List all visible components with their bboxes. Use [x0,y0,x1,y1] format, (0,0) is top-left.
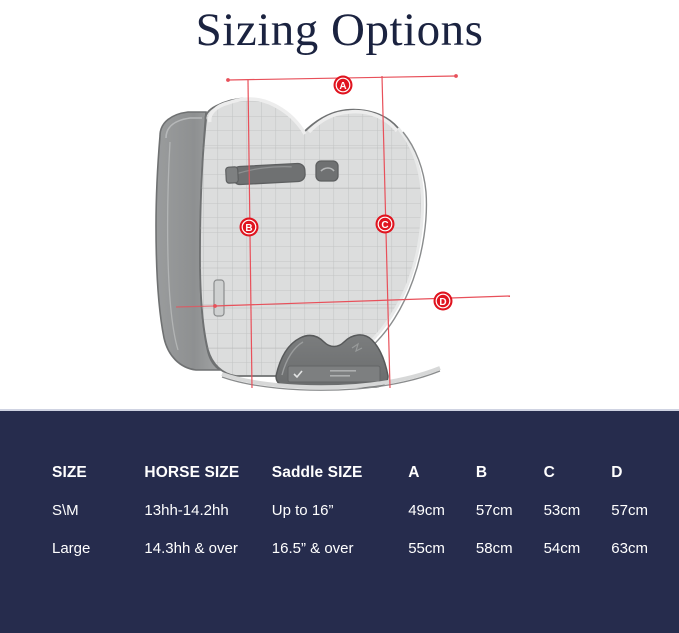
marker-b: B [240,218,259,237]
cell-c: 54cm [544,529,612,567]
svg-text:A: A [339,81,346,92]
cell-saddle-size: Up to 16” [272,491,408,529]
th-size: SIZE [0,455,138,491]
saddle-pad-illustration: A B C D [0,58,679,410]
sizing-table: SIZE HORSE SIZE Saddle SIZE A B C D S\M … [0,455,679,567]
marker-d: D [434,292,453,311]
pad-d-ring-tab [316,161,338,181]
table-row: Large 14.3hh & over 16.5” & over 55cm 58… [0,529,679,567]
th-b: B [476,455,544,491]
marker-a: A [334,76,353,95]
cell-saddle-size: 16.5” & over [272,529,408,567]
cell-d: 57cm [611,491,679,529]
th-c: C [544,455,612,491]
th-horse-size: HORSE SIZE [138,455,271,491]
pad-girth-strap [226,163,306,185]
sizing-table-panel: SIZE HORSE SIZE Saddle SIZE A B C D S\M … [0,411,679,633]
marker-c: C [376,215,395,234]
pad-body [200,99,430,376]
page-title: Sizing Options [0,2,679,58]
cell-b: 57cm [476,491,544,529]
th-d: D [611,455,679,491]
cell-a: 55cm [408,529,476,567]
svg-text:C: C [381,220,388,231]
cell-b: 58cm [476,529,544,567]
sizing-options-page: Sizing Options [0,0,679,633]
cell-d: 63cm [611,529,679,567]
th-a: A [408,455,476,491]
cell-horse-size: 13hh-14.2hh [138,491,271,529]
svg-text:B: B [245,223,252,234]
svg-text:D: D [439,297,446,308]
cell-a: 49cm [408,491,476,529]
pad-billet-keeper [214,280,224,316]
table-row: S\M 13hh-14.2hh Up to 16” 49cm 57cm 53cm… [0,491,679,529]
cell-horse-size: 14.3hh & over [138,529,271,567]
cell-size: Large [0,529,138,567]
table-header-row: SIZE HORSE SIZE Saddle SIZE A B C D [0,455,679,491]
th-saddle-size: Saddle SIZE [272,455,408,491]
cell-c: 53cm [544,491,612,529]
cell-size: S\M [0,491,138,529]
